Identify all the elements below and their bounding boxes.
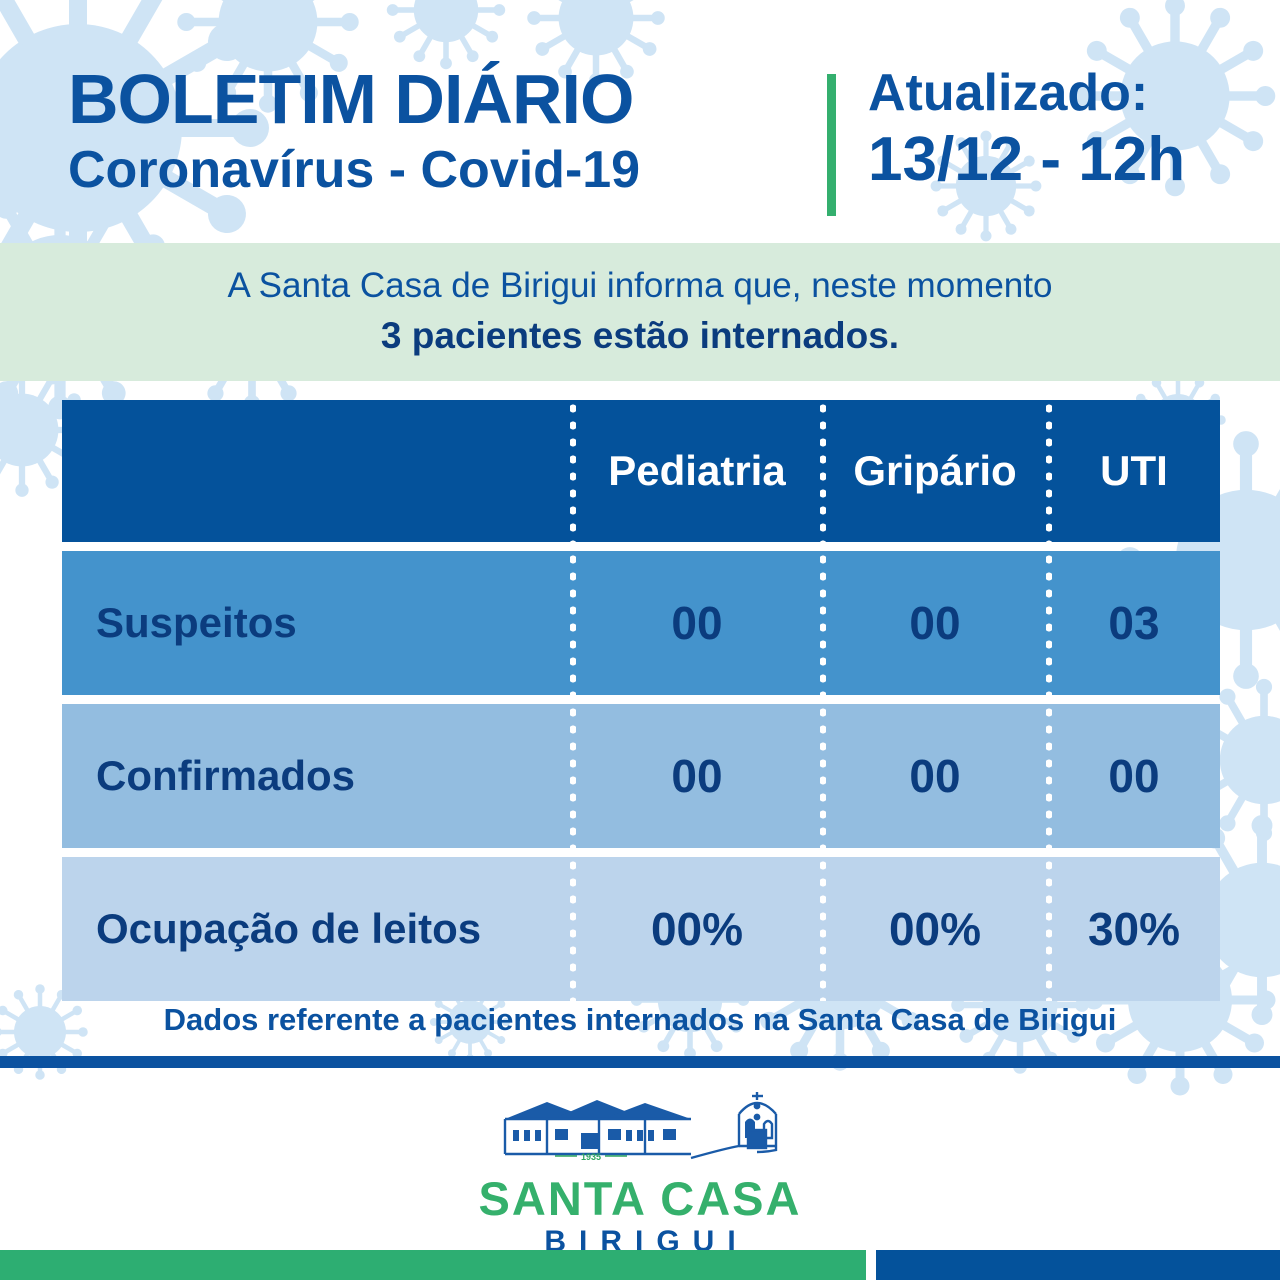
table-row: Confirmados 00 00 00 bbox=[62, 704, 1220, 848]
cell-ocupacao-gripario: 00% bbox=[822, 902, 1048, 956]
cell-suspeitos-pediatria: 00 bbox=[572, 596, 822, 650]
column-divider-3 bbox=[1046, 857, 1052, 1001]
column-divider-1 bbox=[570, 400, 576, 542]
hospital-building-icon: 1935 bbox=[495, 1086, 785, 1172]
column-header-uti: UTI bbox=[1048, 447, 1220, 495]
column-divider-3 bbox=[1046, 704, 1052, 848]
column-divider-1 bbox=[570, 551, 576, 695]
cell-suspeitos-uti: 03 bbox=[1048, 596, 1220, 650]
column-divider-1 bbox=[570, 704, 576, 848]
table-row: Ocupação de leitos 00% 00% 30% bbox=[62, 857, 1220, 1001]
column-divider-1 bbox=[570, 857, 576, 1001]
santa-casa-logo: 1935 SANTA CASA BIRIGUI bbox=[0, 1086, 1280, 1258]
column-divider-2 bbox=[820, 704, 826, 848]
notice-line-1: A Santa Casa de Birigui informa que, nes… bbox=[228, 264, 1053, 308]
svg-text:1935: 1935 bbox=[581, 1152, 601, 1162]
occupancy-table: Pediatria Gripário UTI Suspeitos 00 00 0… bbox=[62, 400, 1220, 1001]
bottom-bar-blue bbox=[876, 1250, 1280, 1280]
cell-confirmados-uti: 00 bbox=[1048, 749, 1220, 803]
header-divider bbox=[827, 74, 836, 216]
notice-text-block: A Santa Casa de Birigui informa que, nes… bbox=[0, 243, 1280, 381]
column-header-pediatria: Pediatria bbox=[572, 447, 822, 495]
column-divider-3 bbox=[1046, 400, 1052, 542]
title-block: BOLETIM DIÁRIO Coronavírus - Covid-19 bbox=[68, 64, 808, 201]
page-title: BOLETIM DIÁRIO bbox=[68, 64, 808, 134]
cell-suspeitos-gripario: 00 bbox=[822, 596, 1048, 650]
column-divider-3 bbox=[1046, 551, 1052, 695]
row-label-ocupacao: Ocupação de leitos bbox=[62, 905, 572, 953]
cell-confirmados-gripario: 00 bbox=[822, 749, 1048, 803]
column-divider-2 bbox=[820, 551, 826, 695]
notice-line-2: 3 pacientes estão internados. bbox=[381, 312, 899, 360]
covid-daily-bulletin-poster: BOLETIM DIÁRIO Coronavírus - Covid-19 At… bbox=[0, 0, 1280, 1280]
row-label-confirmados: Confirmados bbox=[62, 752, 572, 800]
footer-note: Dados referente a pacientes internados n… bbox=[0, 1002, 1280, 1038]
table-header-row: Pediatria Gripário UTI bbox=[62, 400, 1220, 542]
poster-header: BOLETIM DIÁRIO Coronavírus - Covid-19 bbox=[0, 0, 1280, 240]
table-row: Suspeitos 00 00 03 bbox=[62, 551, 1220, 695]
cell-ocupacao-pediatria: 00% bbox=[572, 902, 822, 956]
logo-name: SANTA CASA bbox=[479, 1174, 802, 1223]
cell-ocupacao-uti: 30% bbox=[1048, 902, 1220, 956]
column-header-gripario: Gripário bbox=[822, 447, 1048, 495]
footer-rule bbox=[0, 1056, 1280, 1068]
cell-confirmados-pediatria: 00 bbox=[572, 749, 822, 803]
bottom-bar-green bbox=[0, 1250, 866, 1280]
page-subtitle: Coronavírus - Covid-19 bbox=[68, 140, 808, 201]
row-label-suspeitos: Suspeitos bbox=[62, 599, 572, 647]
column-divider-2 bbox=[820, 857, 826, 1001]
column-divider-2 bbox=[820, 400, 826, 542]
